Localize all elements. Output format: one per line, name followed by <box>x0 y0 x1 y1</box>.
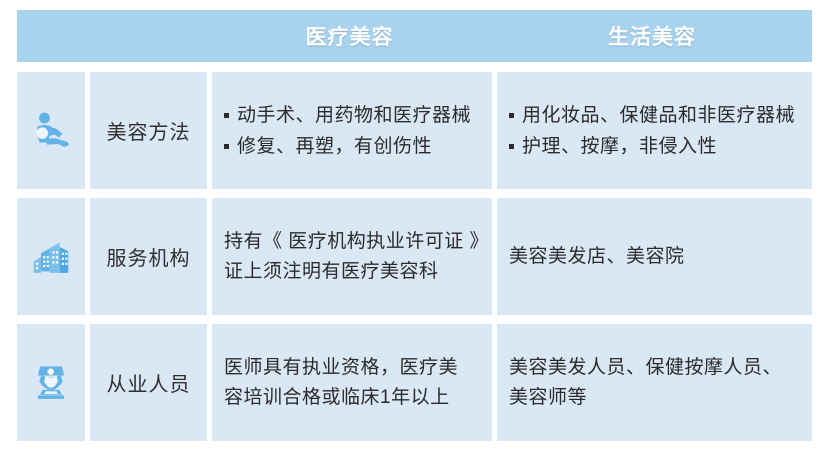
header-column-medical-beauty: 医疗美容 <box>207 10 492 62</box>
header-column-lifestyle-beauty: 生活美容 <box>492 10 812 62</box>
header-label-spacer <box>85 10 207 62</box>
row-lifestyle-method: 用化妆品、保健品和非医疗器械 护理、按摩，非侵入性 <box>497 72 812 189</box>
table-body: 美容方法 动手术、用药物和医疗器械 修复、再塑，有创伤性 用化妆品、保健品和非医… <box>17 72 812 441</box>
row-label-personnel: 从业人员 <box>90 324 207 441</box>
table-row: 美容方法 动手术、用药物和医疗器械 修复、再塑，有创伤性 用化妆品、保健品和非医… <box>17 72 812 189</box>
row-medical-institution: 持有《 医疗机构执业许可证 》 证上须注明有医疗美容科 <box>212 198 492 315</box>
cell-text-block: 持有《 医疗机构执业许可证 》 证上须注明有医疗美容科 <box>224 227 482 287</box>
text-line: 证上须注明有医疗美容科 <box>224 257 482 287</box>
row-icon-cell-personnel <box>17 324 85 441</box>
cell-text-block: 美容美发人员、保健按摩人员、 美容师等 <box>509 353 782 413</box>
list-item: 动手术、用药物和医疗器械 <box>224 100 471 131</box>
row-lifestyle-institution: 美容美发店、美容院 <box>497 198 812 315</box>
nurse-icon <box>29 360 73 406</box>
list-item: 护理、按摩，非侵入性 <box>509 131 795 162</box>
list-item: 用化妆品、保健品和非医疗器械 <box>509 100 795 131</box>
cell-text-block: 医师具有执业资格，医疗美 容培训合格或临床1年以上 <box>224 353 458 413</box>
text-line: 持有《 医疗机构执业许可证 》 <box>224 227 482 257</box>
row-medical-personnel: 医师具有执业资格，医疗美 容培训合格或临床1年以上 <box>212 324 492 441</box>
header-icon-spacer <box>17 10 85 62</box>
text-line: 医师具有执业资格，医疗美 <box>224 353 458 383</box>
cell-text-block: 美容美发店、美容院 <box>509 242 685 272</box>
row-medical-method: 动手术、用药物和医疗器械 修复、再塑，有创伤性 <box>212 72 492 189</box>
table-row: 服务机构 持有《 医疗机构执业许可证 》 证上须注明有医疗美容科 美容美发店、美… <box>17 198 812 315</box>
table-row: 从业人员 医师具有执业资格，医疗美 容培训合格或临床1年以上 美容美发人员、保健… <box>17 324 812 441</box>
text-line: 容培训合格或临床1年以上 <box>224 383 458 413</box>
row-lifestyle-personnel: 美容美发人员、保健按摩人员、 美容师等 <box>497 324 812 441</box>
text-line: 美容师等 <box>509 383 782 413</box>
text-line: 美容美发人员、保健按摩人员、 <box>509 353 782 383</box>
table-header-row: 医疗美容 生活美容 <box>17 10 812 62</box>
row-label-institution: 服务机构 <box>90 198 207 315</box>
list-item: 修复、再塑，有创伤性 <box>224 131 471 162</box>
text-line: 美容美发店、美容院 <box>509 242 685 272</box>
row-icon-cell-method <box>17 72 85 189</box>
surgery-doctor-icon <box>28 108 74 154</box>
row-icon-cell-institution <box>17 198 85 315</box>
bullet-list: 动手术、用药物和医疗器械 修复、再塑，有创伤性 <box>224 100 471 162</box>
row-label-method: 美容方法 <box>90 72 207 189</box>
bullet-list: 用化妆品、保健品和非医疗器械 护理、按摩，非侵入性 <box>509 100 795 162</box>
comparison-table: 医疗美容 生活美容 美容方法 <box>17 10 812 443</box>
buildings-icon <box>28 234 74 280</box>
